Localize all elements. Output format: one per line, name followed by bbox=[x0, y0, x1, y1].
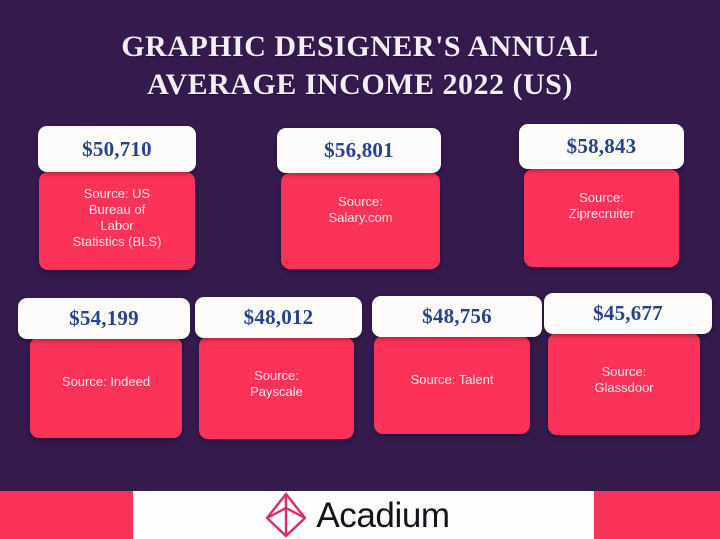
card-value-box: $48,012 bbox=[195, 297, 362, 338]
card-source: Source: Talent bbox=[374, 372, 530, 388]
card-value-box: $45,677 bbox=[544, 293, 712, 334]
card-value-box: $56,801 bbox=[277, 128, 441, 173]
card-value: $54,199 bbox=[69, 306, 139, 331]
card-source: Source: Glassdoor bbox=[548, 364, 700, 396]
card-value-box: $48,756 bbox=[372, 296, 542, 337]
card-source: Source: Salary.com bbox=[281, 194, 440, 226]
title-line-2: AVERAGE INCOME 2022 (US) bbox=[0, 66, 720, 104]
card-source: Source: Payscale bbox=[199, 368, 354, 400]
card-value-box: $58,843 bbox=[519, 124, 684, 169]
brand-lockup: Acadium bbox=[265, 492, 449, 538]
footer-bar: Acadium bbox=[0, 491, 720, 539]
card-value-box: $54,199 bbox=[18, 298, 190, 339]
footer-brand-panel: Acadium bbox=[133, 491, 594, 539]
brand-name: Acadium bbox=[316, 498, 449, 533]
card-value-box: $50,710 bbox=[38, 126, 196, 172]
card-source: Source: Indeed bbox=[30, 374, 182, 390]
page-title: GRAPHIC DESIGNER'S ANNUAL AVERAGE INCOME… bbox=[0, 28, 720, 105]
card-value: $48,756 bbox=[422, 304, 492, 329]
card-source: Source: US Bureau of Labor Statistics (B… bbox=[39, 186, 195, 249]
acadium-logo-icon bbox=[265, 492, 307, 538]
card-value: $58,843 bbox=[567, 134, 637, 159]
card-value: $56,801 bbox=[324, 138, 394, 163]
card-source: Source: Ziprecruiter bbox=[524, 190, 679, 222]
card-value: $45,677 bbox=[593, 301, 663, 326]
infographic-canvas: GRAPHIC DESIGNER'S ANNUAL AVERAGE INCOME… bbox=[0, 0, 720, 539]
card-value: $50,710 bbox=[82, 137, 152, 162]
title-line-1: GRAPHIC DESIGNER'S ANNUAL bbox=[0, 28, 720, 66]
card-value: $48,012 bbox=[244, 305, 314, 330]
